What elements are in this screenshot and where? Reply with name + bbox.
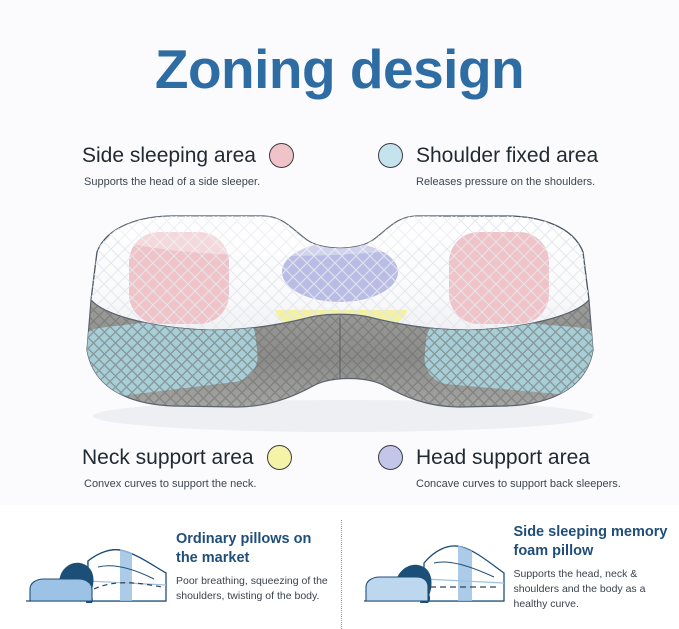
comparison-text-ordinary: Ordinary pillows on the market Poor brea… [176, 530, 340, 604]
top-highlight [105, 204, 465, 256]
pillow-svg [55, 200, 625, 445]
comparison-title-ordinary: Ordinary pillows on the market [176, 530, 332, 568]
comparison-description-memory-foam: Supports the head, neck & shoulders and … [514, 567, 672, 612]
comparison-divider [341, 520, 342, 629]
comparison-title-memory-foam: Side sleeping memory foam pillow [514, 523, 672, 561]
page-title: Zoning design [0, 38, 679, 100]
legend-swatch-side-sleeping [269, 143, 294, 168]
zoning-design-infographic: Zoning design Side sleeping area Support… [0, 0, 679, 629]
comparison-panel-memory-foam: Side sleeping memory foam pillow Support… [340, 505, 679, 629]
legend-item-side-sleeping: Side sleeping area Supports the head of … [82, 143, 294, 190]
legend-row: Shoulder fixed area [378, 143, 598, 168]
legend-label-shoulder-fixed: Shoulder fixed area [416, 143, 598, 168]
side-sleeper-on-contoured-pillow-icon [358, 517, 508, 617]
legend-label-side-sleeping: Side sleeping area [82, 143, 256, 168]
comparison-panel-ordinary: Ordinary pillows on the market Poor brea… [0, 505, 340, 629]
legend-description-side-sleeping: Supports the head of a side sleeper. [84, 175, 260, 190]
legend-description-neck-support: Convex curves to support the neck. [84, 477, 256, 492]
pillow-product-image [55, 200, 625, 445]
legend-item-shoulder-fixed: Shoulder fixed area Releases pressure on… [378, 143, 598, 190]
legend-item-neck-support: Neck support area Convex curves to suppo… [82, 445, 292, 492]
legend-row: Neck support area [82, 445, 292, 470]
legend-row: Side sleeping area [82, 143, 294, 168]
legend-label-neck-support: Neck support area [82, 445, 254, 470]
comparison-section: Ordinary pillows on the market Poor brea… [0, 505, 679, 629]
comparison-text-memory-foam: Side sleeping memory foam pillow Support… [514, 523, 679, 612]
legend-label-head-support: Head support area [416, 445, 590, 470]
legend-swatch-head-support [378, 445, 403, 470]
legend-swatch-shoulder-fixed [378, 143, 403, 168]
legend-swatch-neck-support [267, 445, 292, 470]
comparison-description-ordinary: Poor breathing, squeezing of the shoulde… [176, 574, 332, 604]
legend-row: Head support area [378, 445, 590, 470]
legend-item-head-support: Head support area Concave curves to supp… [378, 445, 621, 492]
side-sleeper-on-flat-pillow-icon [20, 517, 170, 617]
legend-description-head-support: Concave curves to support back sleepers. [416, 477, 621, 492]
legend-description-shoulder-fixed: Releases pressure on the shoulders. [416, 175, 595, 190]
